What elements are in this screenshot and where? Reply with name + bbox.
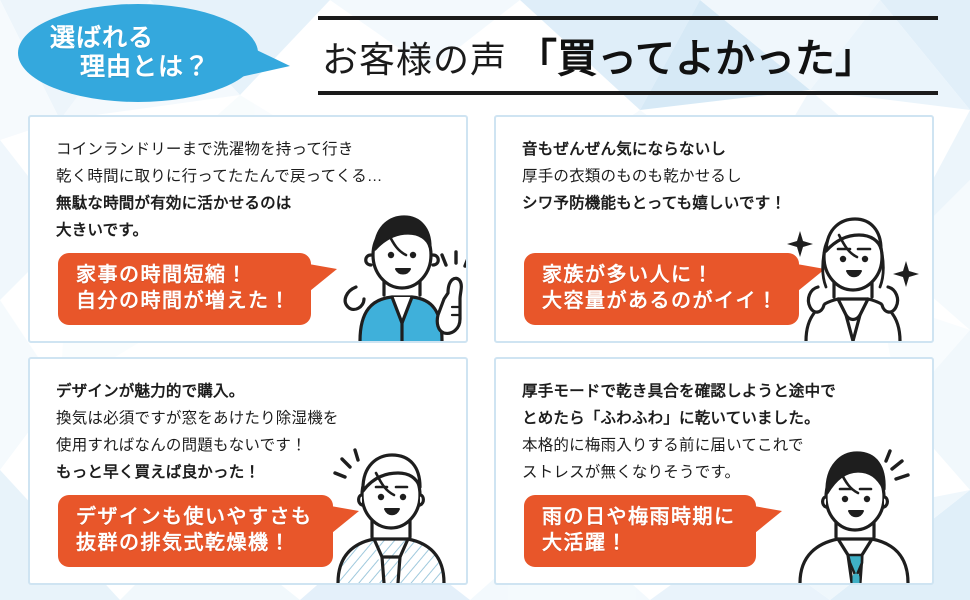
title-line: お客様の声 「買ってよかった」 <box>318 25 938 87</box>
reason-badge: 選ばれる 理由とは？ <box>18 4 293 102</box>
testimonial-line: コインランドリーまで洗濯物を持って行き <box>56 137 456 164</box>
man-necktie-icon <box>778 439 928 585</box>
callout-line: 自分の時間が増えた！ <box>76 288 291 315</box>
callout-box: 家事の時間短縮！ 自分の時間が増えた！ <box>58 253 311 325</box>
testimonial-grid: コインランドリーまで洗濯物を持って行き 乾く時間に取りに行ってたたんで戻ってくる… <box>28 115 942 585</box>
reason-badge-line2: 理由とは？ <box>18 53 293 83</box>
testimonial-card: デザインが魅力的で購入。 換気は必須ですが窓をあけたり除湿機を 使用すればなんの… <box>28 357 468 585</box>
reason-badge-line1: 選ばれる <box>18 24 293 54</box>
testimonial-line: 音もぜんぜん気にならないし <box>522 137 922 164</box>
testimonial-line: 厚手の衣類のものも乾かせるし <box>522 164 922 191</box>
woman-hands-on-cheeks-icon <box>776 203 926 343</box>
callout-line: 抜群の排気式乾燥機！ <box>76 530 313 557</box>
callout-box: デザインも使いやすさも 抜群の排気式乾燥機！ <box>58 495 333 567</box>
page-title: お客様の声 「買ってよかった」 <box>318 16 938 95</box>
title-rule-bottom <box>318 91 938 95</box>
title-rule-top <box>318 16 938 20</box>
reason-badge-text: 選ばれる 理由とは？ <box>18 4 293 102</box>
testimonial-line: とめたら「ふわふわ」に乾いていました。 <box>522 406 922 433</box>
callout-box: 雨の日や梅雨時期に 大活躍！ <box>524 495 756 567</box>
testimonial-line: 乾く時間に取りに行ってたたんで戻ってくる… <box>56 164 456 191</box>
callout-bubble: 家事の時間短縮！ 自分の時間が増えた！ <box>58 253 311 325</box>
testimonial-line: デザインが魅力的で購入。 <box>56 379 456 406</box>
testimonial-card: 厚手モードで乾き具合を確認しようと途中で とめたら「ふわふわ」に乾いていました。… <box>494 357 934 585</box>
woman-pointing-up-icon <box>320 203 468 343</box>
testimonial-card: 音もぜんぜん気にならないし 厚手の衣類のものも乾かせるし シワ予防機能もとっても… <box>494 115 934 343</box>
title-strong: 「買ってよかった」 <box>517 26 875 84</box>
poster-canvas: 選ばれる 理由とは？ お客様の声 「買ってよかった」 コインランドリーまで洗濯物… <box>0 0 970 600</box>
testimonial-line: 厚手モードで乾き具合を確認しようと途中で <box>522 379 922 406</box>
callout-line: 大容量があるのがイイ！ <box>542 288 779 315</box>
callout-box: 家族が多い人に！ 大容量があるのがイイ！ <box>524 253 799 325</box>
callout-bubble: デザインも使いやすさも 抜群の排気式乾燥機！ <box>58 495 333 567</box>
callout-line: 雨の日や梅雨時期に <box>542 504 736 531</box>
callout-line: 家族が多い人に！ <box>542 262 779 289</box>
callout-bubble: 家族が多い人に！ 大容量があるのがイイ！ <box>524 253 799 325</box>
woman-short-hair-icon <box>312 439 464 585</box>
callout-line: 大活躍！ <box>542 530 736 557</box>
callout-bubble: 雨の日や梅雨時期に 大活躍！ <box>524 495 756 567</box>
testimonial-line: 換気は必須ですが窓をあけたり除湿機を <box>56 406 456 433</box>
callout-tail-icon <box>748 503 782 543</box>
title-normal: お客様の声 <box>322 31 507 83</box>
poster-header: 選ばれる 理由とは？ お客様の声 「買ってよかった」 <box>0 0 970 108</box>
callout-line: デザインも使いやすさも <box>76 504 313 531</box>
callout-line: 家事の時間短縮！ <box>76 262 291 289</box>
testimonial-card: コインランドリーまで洗濯物を持って行き 乾く時間に取りに行ってたたんで戻ってくる… <box>28 115 468 343</box>
